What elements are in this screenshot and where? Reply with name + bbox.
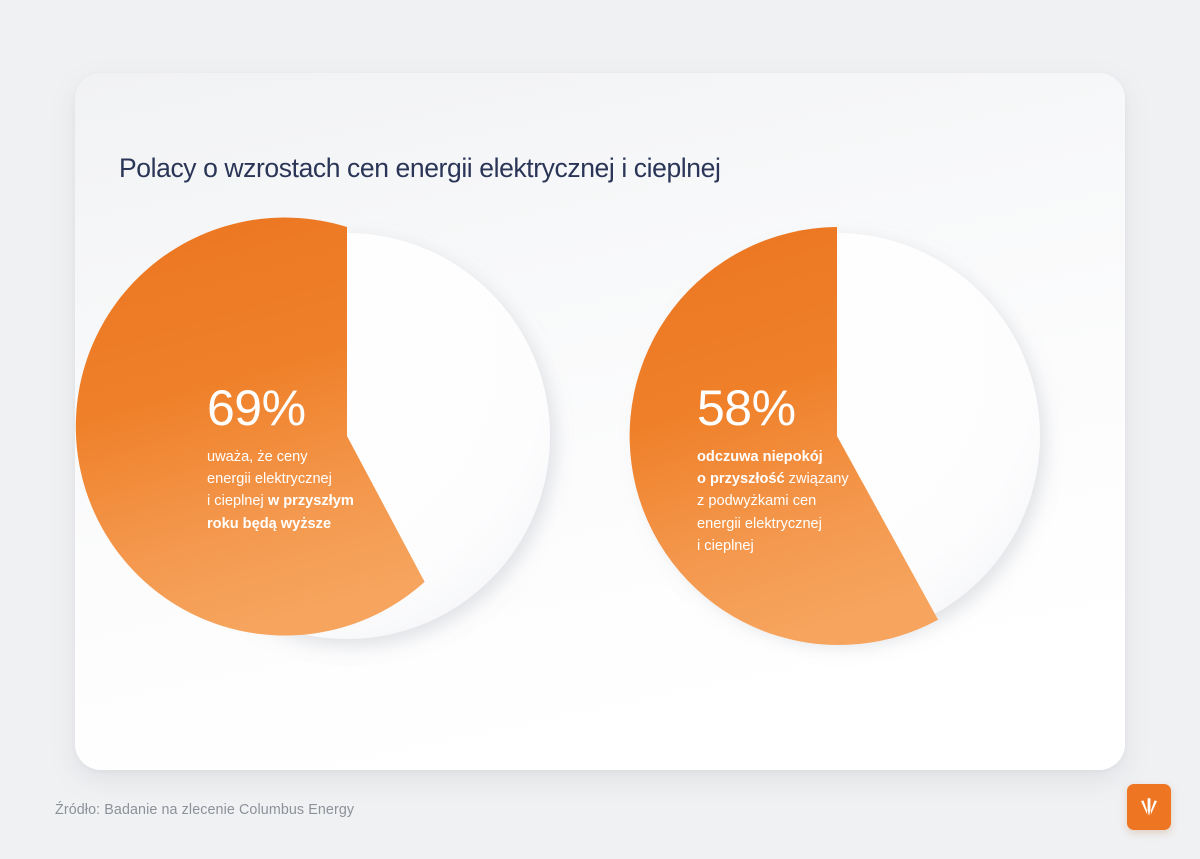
pie-description-1: uważa, że ceny energii elektrycznej i ci… [207,446,417,535]
pie-chart-higher-prices: 69% uważa, że ceny energii elektrycznej … [139,228,579,668]
desc-line-1: uważa, że ceny [207,449,308,465]
infographic-card: Polacy o wzrostach cen energii elektrycz… [75,73,1125,770]
columbus-energy-logo [1127,784,1171,830]
desc2-line-4: i cieplnej [697,538,754,554]
desc-bold-1: w przyszłym [268,493,354,509]
source-note: Źródło: Badanie na zlecenie Columbus Ene… [55,802,354,818]
desc2-bold-1: odczuwa niepokój [697,449,823,465]
pie-label-group-1: 69% uważa, że ceny energii elektrycznej … [207,383,417,535]
pie-percent-value-2: 58% [697,383,912,433]
page-title: Polacy o wzrostach cen energii elektrycz… [119,153,720,184]
pie-description-2: odczuwa niepokój o przyszłość związany z… [697,446,912,557]
columbus-trident-icon [1136,794,1162,820]
pie-chart-anxiety-future: 58% odczuwa niepokój o przyszłość związa… [629,228,1069,668]
pie-percent-value-1: 69% [207,383,417,433]
desc-bold-2: roku będą wyższe [207,516,331,532]
desc-line-2: energii elektrycznej [207,471,332,487]
desc2-bold-2: o przyszłość [697,471,789,487]
desc2-line-2: z podwyżkami cen [697,493,816,509]
desc2-line-3: energii elektrycznej [697,516,822,532]
pie-label-group-2: 58% odczuwa niepokój o przyszłość związa… [697,383,912,557]
desc-line-3: i cieplnej [207,493,268,509]
desc2-line-1: związany [789,471,849,487]
